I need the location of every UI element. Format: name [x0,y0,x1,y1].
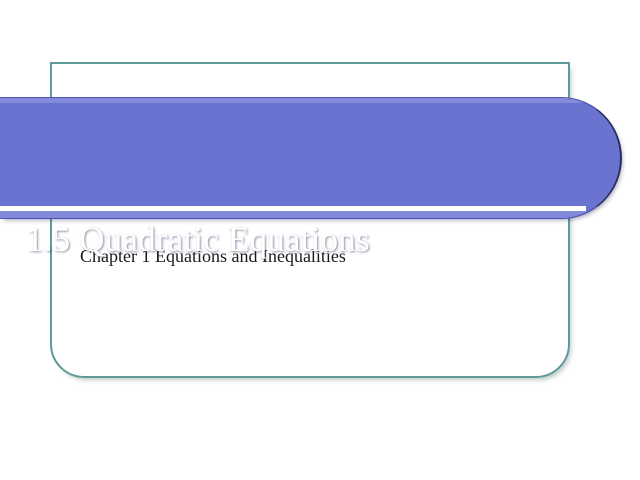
slide-canvas: 1.5 Quadratic Equations Chapter 1 Equati… [0,0,640,480]
banner-accent-stripe [0,206,586,211]
banner-bottom-highlight [0,211,620,218]
slide-title: 1.5 Quadratic Equations [26,220,370,260]
title-banner [0,97,622,219]
banner-top-highlight [0,98,620,103]
